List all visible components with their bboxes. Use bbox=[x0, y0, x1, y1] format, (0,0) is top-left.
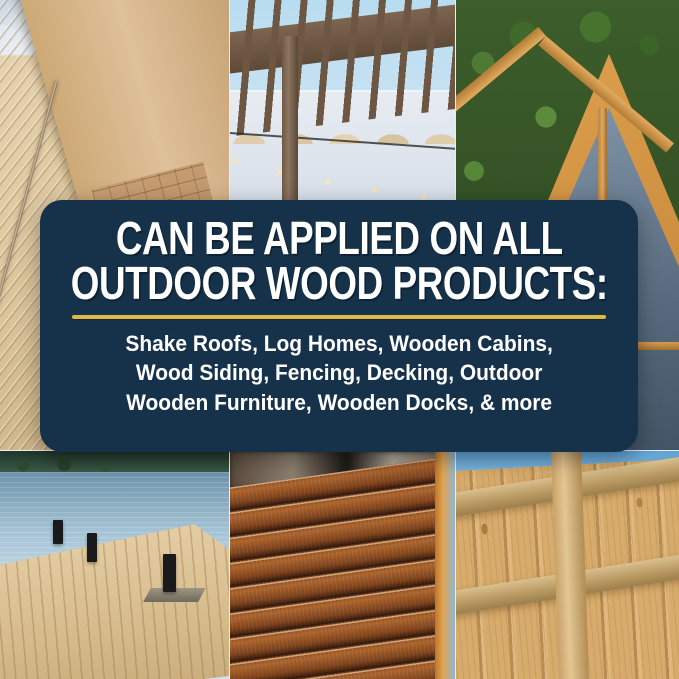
product-list-line-1: Shake Roofs, Log Homes, Wooden Cabins, bbox=[67, 329, 610, 358]
board-edge-highlights bbox=[230, 451, 455, 679]
product-list-line-3: Wooden Furniture, Wooden Docks, & more bbox=[67, 388, 610, 417]
photo-wood-privacy-fence bbox=[456, 451, 679, 679]
dock-bollard-2 bbox=[87, 533, 97, 562]
headline: CAN BE APPLIED ON ALL OUTDOOR WOOD PRODU… bbox=[66, 216, 612, 306]
product-list-line-2: Wood Siding, Fencing, Decking, Outdoor bbox=[67, 358, 610, 387]
product-list: Shake Roofs, Log Homes, Wooden Cabins, W… bbox=[67, 329, 610, 417]
callout-panel: CAN BE APPLIED ON ALL OUTDOOR WOOD PRODU… bbox=[40, 200, 638, 452]
dock-bollard-3 bbox=[163, 554, 176, 592]
gold-divider bbox=[72, 315, 606, 319]
product-infographic-poster: CAN BE APPLIED ON ALL OUTDOOR WOOD PRODU… bbox=[0, 0, 679, 679]
headline-line-2: OUTDOOR WOOD PRODUCTS: bbox=[66, 261, 612, 306]
photo-stained-deck-boards bbox=[230, 451, 455, 679]
distant-treeline bbox=[0, 451, 229, 472]
deck-right-edge-board bbox=[435, 451, 455, 679]
photo-wooden-dock bbox=[0, 451, 229, 679]
dock-bollard-1 bbox=[53, 520, 63, 544]
